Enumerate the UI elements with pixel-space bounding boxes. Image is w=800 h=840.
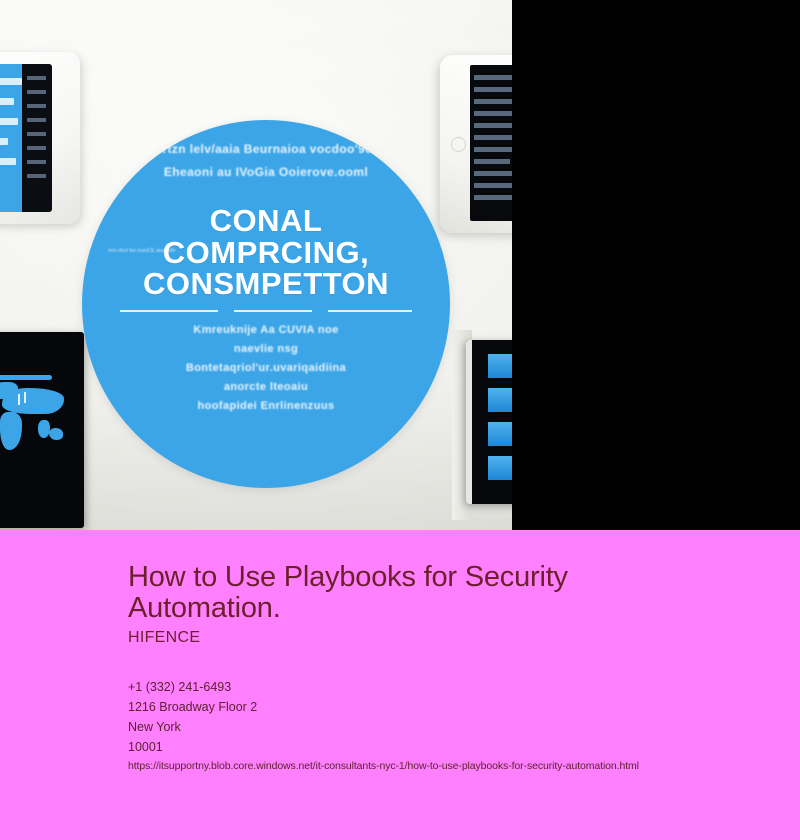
contact-block: +1 (332) 241-6493 1216 Broadway Floor 2 … bbox=[128, 677, 257, 757]
circle-bottom-line-4: anorcte lteoaiu bbox=[224, 381, 308, 393]
tablet-left-dark-strip bbox=[22, 64, 52, 212]
tablet-top-right-screen bbox=[470, 65, 512, 221]
source-url-link[interactable]: https://itsupportny.blob.core.windows.ne… bbox=[128, 760, 639, 772]
contact-city: New York bbox=[128, 717, 257, 737]
circle-top-line-1: Ortzn lelv/aaia Beurnaioa vocdoo'90a bbox=[153, 142, 380, 156]
article-card: nrni nfvci bio iconiCE aiua lviln Ortzn … bbox=[0, 0, 800, 840]
circle-bottom-line-5: hoofapidei Enrlinenzuus bbox=[198, 400, 335, 412]
brand-name: HIFENCE bbox=[128, 629, 200, 647]
article-info-panel: How to Use Playbooks for Security Automa… bbox=[0, 530, 800, 840]
blue-circle-graphic: nrni nfvci bio iconiCE aiua lviln Ortzn … bbox=[82, 120, 450, 488]
circle-headline-line-3: CONSMPETTON bbox=[143, 268, 389, 300]
tablet-left-device bbox=[0, 52, 80, 224]
hero-photo: nrni nfvci bio iconiCE aiua lviln Ortzn … bbox=[0, 0, 512, 530]
circle-bottom-line-2: naevlie nsg bbox=[234, 343, 298, 355]
tablet-top-right-device bbox=[440, 55, 512, 233]
tablet-home-button-icon bbox=[451, 137, 466, 152]
blue-blocks-screen bbox=[466, 340, 512, 504]
circle-bottom-line-3: Bontetaqriol'ur.uvariqaidiina bbox=[186, 362, 346, 374]
contact-street: 1216 Broadway Floor 2 bbox=[128, 697, 257, 717]
circle-top-line-2: Eheaoni au IVoGia Ooierove.ooml bbox=[164, 165, 368, 179]
circle-bottom-line-1: Kmreuknije Aa CUVIA noe bbox=[193, 324, 338, 336]
hero-media-band: nrni nfvci bio iconiCE aiua lviln Ortzn … bbox=[0, 0, 800, 530]
circle-headline-line-2: COMPRCING, bbox=[143, 237, 389, 269]
contact-zip: 10001 bbox=[128, 737, 257, 757]
page-title: How to Use Playbooks for Security Automa… bbox=[128, 562, 688, 625]
circle-divider-rules bbox=[120, 310, 412, 312]
circle-headline-line-1: CONAL bbox=[143, 205, 389, 237]
circle-headline: CONAL COMPRCING, CONSMPETTON bbox=[143, 205, 389, 300]
contact-phone[interactable]: +1 (332) 241-6493 bbox=[128, 677, 257, 697]
tablet-left-screen bbox=[0, 64, 52, 212]
world-map-screen bbox=[0, 332, 84, 528]
